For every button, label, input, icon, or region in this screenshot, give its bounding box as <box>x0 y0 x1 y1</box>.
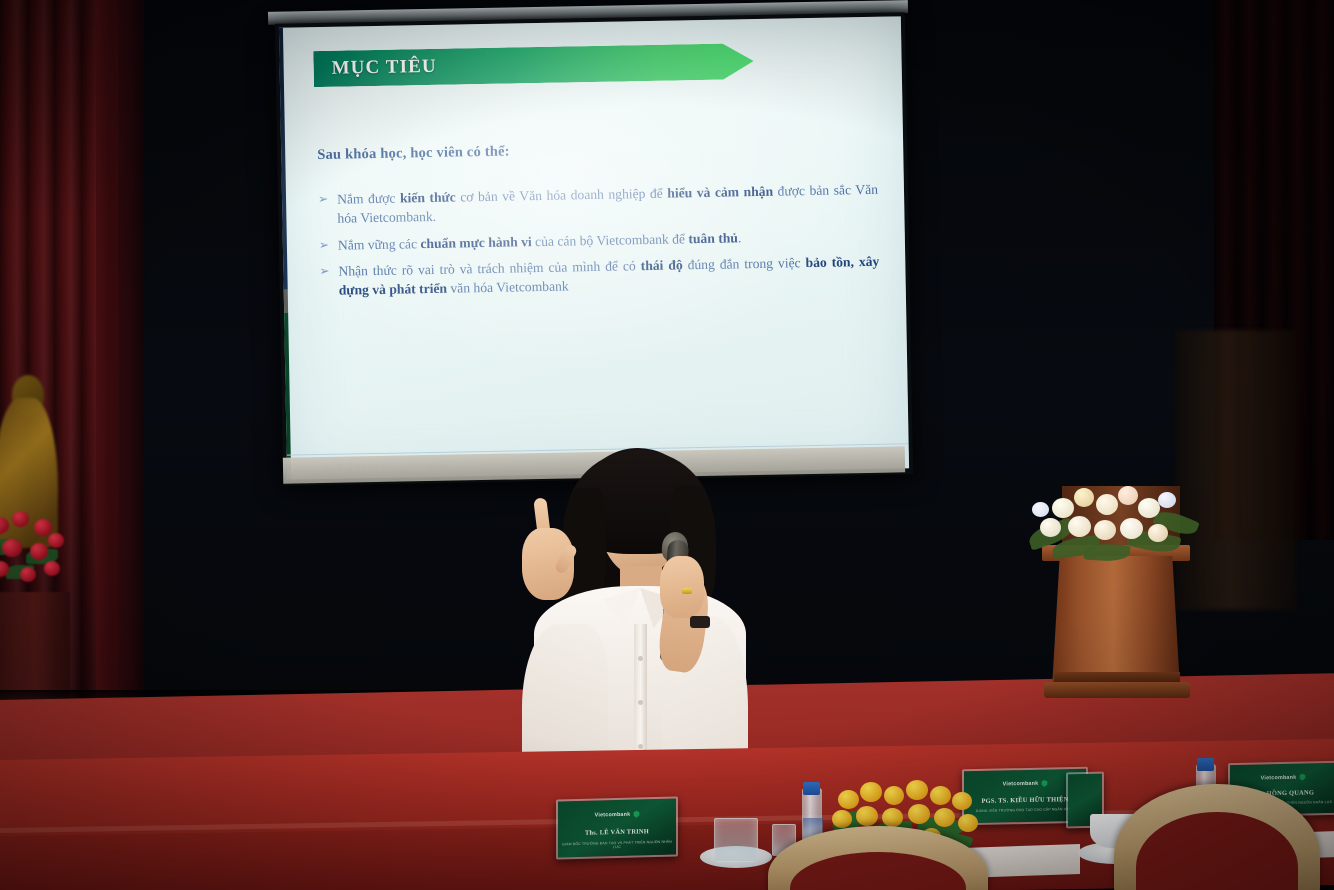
slide-body: Sau khóa học, học viên có thể: ➢Nắm được… <box>317 137 880 308</box>
red-flower-arrangement <box>0 505 82 597</box>
finger-ring <box>682 588 692 594</box>
podium-flower-arrangement <box>1026 480 1202 572</box>
slide-bullet-list: ➢Nắm được kiến thức cơ bản về Văn hóa do… <box>318 180 880 301</box>
photo-scene: MỤC TIÊU Sau khóa học, học viên có thể: … <box>0 0 1334 890</box>
podium-base <box>1044 682 1190 698</box>
slide-bullet-text: Nhận thức rõ vai trò và trách nhiệm của … <box>338 252 880 300</box>
bullet-arrow-icon: ➢ <box>319 235 329 254</box>
vietcombank-logo: Vietcombank <box>595 811 640 819</box>
slide-bullet-item: ➢Nắm được kiến thức cơ bản về Văn hóa do… <box>318 180 879 229</box>
slide-bullet-text: Nắm được kiến thức cơ bản về Văn hóa doa… <box>337 180 879 228</box>
shield-icon <box>1299 774 1305 781</box>
slide-bullet-text: Nắm vững các chuẩn mực hành vi của cán b… <box>338 225 879 254</box>
vietcombank-logo: Vietcombank <box>1261 774 1306 782</box>
water-glass <box>714 818 758 862</box>
shirt-button <box>638 656 643 661</box>
presenter-hand-right <box>660 556 704 618</box>
name-placard: Vietcombank Ths. LÊ VĂN TRINH GIÁM ĐỐC T… <box>556 797 678 860</box>
vietcombank-logo: Vietcombank <box>1003 780 1048 788</box>
bullet-arrow-icon: ➢ <box>318 190 329 229</box>
slide-bullet-item: ➢Nắm vững các chuẩn mực hành vi của cán … <box>319 225 879 255</box>
slide-bullet-item: ➢Nhận thức rõ vai trò và trách nhiệm của… <box>319 252 880 301</box>
stage-curtain-left-fold <box>96 0 144 720</box>
shield-icon <box>633 811 639 818</box>
slide-lead-text: Sau khóa học, học viên có thể: <box>317 137 877 164</box>
shirt-button <box>638 700 643 705</box>
bottle-cap <box>803 782 820 795</box>
bottle-cap <box>1197 758 1214 771</box>
wristwatch <box>690 616 710 628</box>
slide-title: MỤC TIÊU <box>331 56 436 80</box>
podium <box>1052 556 1180 688</box>
bullet-arrow-icon: ➢ <box>319 262 330 301</box>
shield-icon <box>1041 780 1047 787</box>
projection-screen: MỤC TIÊU Sau khóa học, học viên có thể: … <box>279 16 909 479</box>
shirt-button <box>638 744 643 749</box>
slide-title-banner: MỤC TIÊU <box>313 43 754 87</box>
